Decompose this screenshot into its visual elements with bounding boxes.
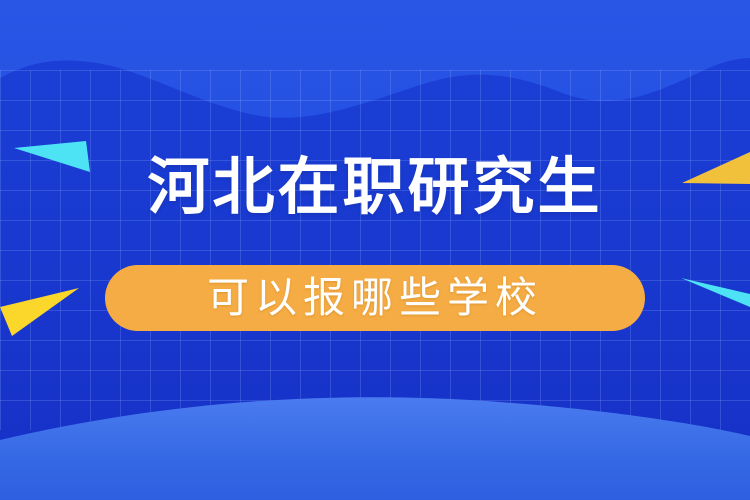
decorative-shapes <box>0 0 750 500</box>
banner-root: 河北在职研究生 可以报哪些学校 <box>0 0 750 500</box>
yellow-triangle-bottom-left-icon <box>0 288 79 336</box>
subtitle-pill: 可以报哪些学校 <box>105 265 645 331</box>
cyan-triangle-bottom-right-icon <box>681 278 750 307</box>
page-title: 河北在职研究生 <box>0 157 750 219</box>
subtitle-pill-label: 可以报哪些学校 <box>207 277 543 319</box>
